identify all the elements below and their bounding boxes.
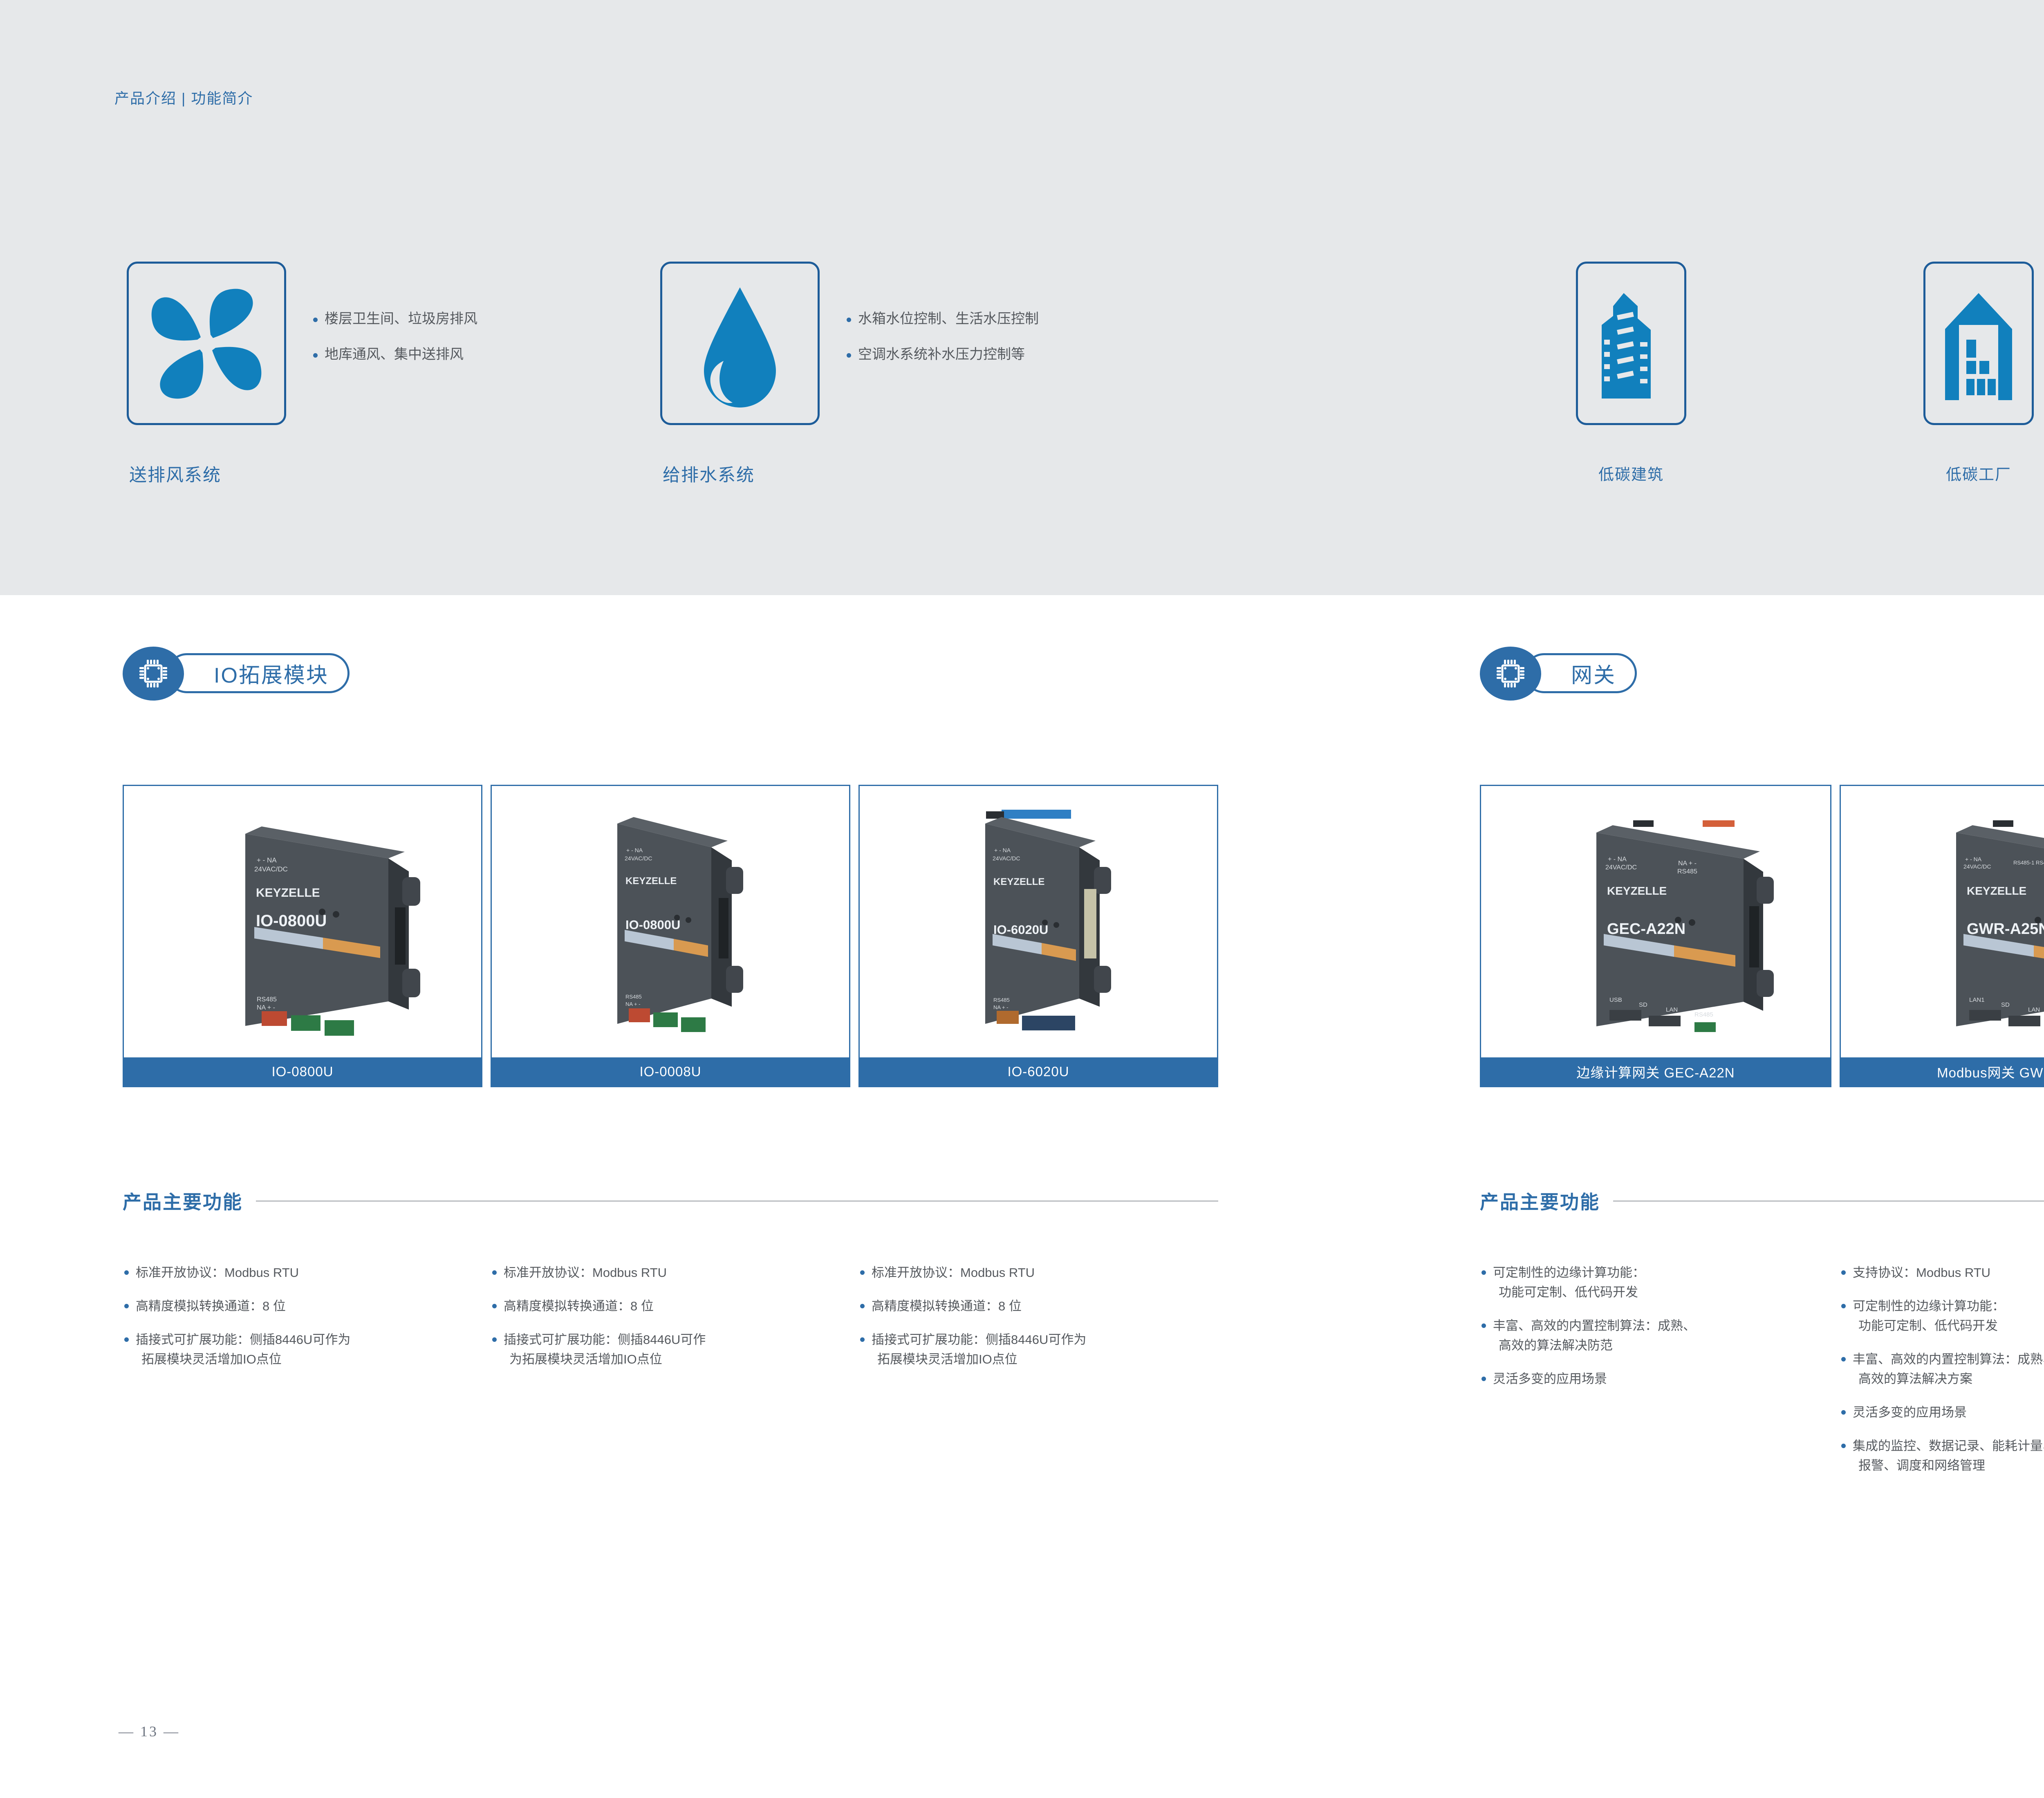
feature-line: 集成的监控、数据记录、能耗计量、 <box>1853 1439 2044 1453</box>
product-card-io-0008u[interactable]: + - NA 24VAC/DC KEYZELLE IO-0800U RS485 … <box>491 785 850 1087</box>
svg-text:NA + -: NA + - <box>993 1004 1009 1010</box>
features-heading-text: 产品主要功能 <box>1480 1187 1600 1214</box>
product-label-io-0008u: IO-0008U <box>492 1057 849 1086</box>
product-label-gec-a22n: 边缘计算网关 GEC-A22N <box>1481 1057 1830 1086</box>
svg-text:+ - NA: + - NA <box>1965 856 1982 862</box>
svg-text:24VAC/DC: 24VAC/DC <box>1963 863 1991 870</box>
product-image-io-0008u: + - NA 24VAC/DC KEYZELLE IO-0800U RS485 … <box>492 786 849 1057</box>
feature-line: 插接式可扩展功能：侧插8446U可作为 <box>872 1332 1086 1347</box>
heading-rule <box>256 1200 1218 1202</box>
svg-text:+ - NA: + - NA <box>1608 856 1627 863</box>
svg-text:KEYZELLE: KEYZELLE <box>993 876 1044 887</box>
feature-line-cont: 高效的算法解决方案 <box>1853 1369 2044 1389</box>
feature-line: 可定制性的边缘计算功能： <box>1853 1299 2005 1313</box>
feature-line: 标准开放协议：Modbus RTU <box>872 1265 1035 1280</box>
list-item: 可定制性的边缘计算功能： 功能可定制、低代码开发 <box>1480 1263 1807 1302</box>
section-badge-io-expansion: IO拓展模块 <box>123 647 433 704</box>
feature-line: 丰富、高效的内置控制算法：成熟、 <box>1493 1319 1696 1333</box>
product-image-io-0800u: + - NA 24VAC/DC KEYZELLE IO-0800U RS485 … <box>124 786 481 1057</box>
product-label-io-0800u: IO-0800U <box>124 1057 481 1086</box>
svg-text:USB: USB <box>1609 996 1622 1003</box>
product-card-io-6020u[interactable]: + - NA 24VAC/DC KEYZELLE IO-6020U RS485 … <box>858 785 1218 1087</box>
list-item: 空调水系统补水压力控制等 <box>844 346 1039 363</box>
feature-line: 插接式可扩展功能：侧插8446U可作 <box>504 1332 706 1347</box>
list-item: 高精度模拟转换通道：8 位 <box>491 1296 842 1316</box>
feature-line-cont: 高效的算法解决防范 <box>1493 1336 1807 1355</box>
scenario-card-title-low-carbon-building: 低碳建筑 <box>1573 462 1690 484</box>
list-item: 丰富、高效的内置控制算法：成熟、 高效的算法解决防范 <box>1480 1316 1807 1355</box>
product-image-gwr-a25n: + - NA 24VAC/DC RS485-1 RS485-2 KEYZELLE… <box>1841 786 2044 1057</box>
skyscraper-icon <box>1578 264 1684 424</box>
heading-rule <box>1613 1200 2044 1202</box>
product-label-io-6020u: IO-6020U <box>860 1057 1217 1086</box>
svg-text:KEYZELLE: KEYZELLE <box>1607 884 1667 897</box>
feature-line: 丰富、高效的内置控制算法：成熟、 <box>1853 1352 2044 1366</box>
feature-line-cont: 功能可定制、低代码开发 <box>1853 1316 2044 1336</box>
feature-line: 灵活多变的应用场景 <box>1493 1372 1607 1386</box>
list-item: 高精度模拟转换通道：8 位 <box>858 1296 1210 1316</box>
svg-text:GWR-A25N: GWR-A25N <box>1967 920 2044 938</box>
product-card-io-0800u[interactable]: + - NA 24VAC/DC KEYZELLE IO-0800U RS485 … <box>123 785 482 1087</box>
feature-column-gwr-a25n: 支持协议：Modbus RTU 可定制性的边缘计算功能： 功能可定制、低代码开发… <box>1840 1263 2044 1489</box>
section-badge-label: IO拓展模块 <box>214 658 329 689</box>
feature-column-io-0008u: 标准开放协议：Modbus RTU 高精度模拟转换通道：8 位 插接式可扩展功能… <box>491 1263 842 1383</box>
water-drop-icon <box>662 264 818 424</box>
list-item: 标准开放协议：Modbus RTU <box>858 1263 1210 1283</box>
feature-line: 高精度模拟转换通道：8 位 <box>504 1299 654 1313</box>
application-card-water-supply <box>660 262 820 425</box>
water-supply-bullets: 水箱水位控制、生活水压控制 空调水系统补水压力控制等 <box>844 311 1039 382</box>
page-number-left: — 13 — <box>119 1723 180 1740</box>
list-item: 插接式可扩展功能：侧插8446U可作为 拓展模块灵活增加IO点位 <box>858 1330 1210 1369</box>
svg-text:+ - NA: + - NA <box>626 847 643 853</box>
feature-line: 插接式可扩展功能：侧插8446U可作为 <box>136 1332 350 1347</box>
fan-icon <box>129 264 284 424</box>
svg-text:SD: SD <box>1639 1001 1647 1008</box>
feature-line: 高精度模拟转换通道：8 位 <box>872 1299 1022 1313</box>
product-card-gwr-a25n[interactable]: + - NA 24VAC/DC RS485-1 RS485-2 KEYZELLE… <box>1840 785 2044 1087</box>
svg-text:24VAC/DC: 24VAC/DC <box>254 865 288 873</box>
svg-text:LAN1: LAN1 <box>1969 996 1985 1003</box>
features-heading-text: 产品主要功能 <box>123 1187 243 1214</box>
section-badge-gateway: 网关 <box>1480 647 1733 704</box>
feature-line-cont: 拓展模块灵活增加IO点位 <box>136 1350 474 1369</box>
list-item: 可定制性的边缘计算功能： 功能可定制、低代码开发 <box>1840 1296 2044 1336</box>
section-badge-pill: IO拓展模块 <box>167 653 350 693</box>
feature-column-io-6020u: 标准开放协议：Modbus RTU 高精度模拟转换通道：8 位 插接式可扩展功能… <box>858 1263 1210 1383</box>
feature-column-gec-a22n: 可定制性的边缘计算功能： 功能可定制、低代码开发 丰富、高效的内置控制算法：成熟… <box>1480 1263 1807 1403</box>
product-image-io-6020u: + - NA 24VAC/DC KEYZELLE IO-6020U RS485 … <box>860 786 1217 1057</box>
svg-text:LAN: LAN <box>2028 1006 2040 1013</box>
list-item: 灵活多变的应用场景 <box>1840 1403 2044 1422</box>
svg-text:RS485: RS485 <box>1677 868 1697 875</box>
scenario-card-low-carbon-factory <box>1923 262 2034 425</box>
svg-text:NA + -: NA + - <box>625 1001 641 1007</box>
svg-text:KEYZELLE: KEYZELLE <box>1967 884 2026 897</box>
svg-text:RS485: RS485 <box>993 997 1010 1003</box>
svg-text:RS485-1 RS485-2: RS485-1 RS485-2 <box>2013 860 2044 866</box>
factory-icon <box>1925 264 2032 424</box>
feature-line-cont: 功能可定制、低代码开发 <box>1493 1283 1807 1302</box>
svg-text:KEYZELLE: KEYZELLE <box>256 886 320 900</box>
running-header-left: 产品介绍 | 功能简介 <box>114 87 253 108</box>
feature-line-cont: 拓展模块灵活增加IO点位 <box>872 1350 1210 1369</box>
application-card-title-water-supply: 给排水系统 <box>663 461 755 486</box>
product-card-gec-a22n[interactable]: + - NA 24VAC/DC NA + - RS485 KEYZELLE GE… <box>1480 785 1831 1087</box>
application-card-ventilation <box>127 262 286 425</box>
list-item: 地库通风、集中送排风 <box>311 346 477 363</box>
feature-line: 灵活多变的应用场景 <box>1853 1405 1967 1420</box>
list-item: 高精度模拟转换通道：8 位 <box>123 1296 474 1316</box>
feature-line: 高精度模拟转换通道：8 位 <box>136 1299 286 1313</box>
chip-icon <box>1480 647 1541 701</box>
svg-text:RS485: RS485 <box>257 996 277 1003</box>
svg-text:NA + -: NA + - <box>257 1004 275 1011</box>
list-item: 标准开放协议：Modbus RTU <box>123 1263 474 1283</box>
chip-icon <box>123 647 184 701</box>
svg-text:IO-6020U: IO-6020U <box>993 923 1048 937</box>
svg-text:24VAC/DC: 24VAC/DC <box>1605 864 1637 871</box>
svg-text:+ - NA: + - NA <box>994 847 1011 853</box>
application-card-title-ventilation: 送排风系统 <box>129 461 221 486</box>
svg-text:KEYZELLE: KEYZELLE <box>625 875 677 887</box>
scenario-card-title-low-carbon-factory: 低碳工厂 <box>1920 462 2037 484</box>
list-item: 标准开放协议：Modbus RTU <box>491 1263 842 1283</box>
list-item: 灵活多变的应用场景 <box>1480 1369 1807 1389</box>
product-image-gec-a22n: + - NA 24VAC/DC NA + - RS485 KEYZELLE GE… <box>1481 786 1830 1057</box>
svg-text:+ - NA: + - NA <box>257 856 277 864</box>
svg-text:IO-0800U: IO-0800U <box>256 912 327 930</box>
svg-text:24VAC/DC: 24VAC/DC <box>993 855 1020 862</box>
svg-text:IO-0800U: IO-0800U <box>625 918 680 932</box>
feature-line: 支持协议：Modbus RTU <box>1853 1265 1990 1280</box>
feature-line-cont: 为拓展模块灵活增加IO点位 <box>504 1350 842 1369</box>
scenario-card-low-carbon-building <box>1576 262 1686 425</box>
list-item: 集成的监控、数据记录、能耗计量、 报警、调度和网络管理 <box>1840 1436 2044 1476</box>
svg-text:RS485: RS485 <box>1694 1011 1713 1018</box>
list-item: 丰富、高效的内置控制算法：成熟、 高效的算法解决方案 <box>1840 1350 2044 1389</box>
feature-line: 标准开放协议：Modbus RTU <box>504 1265 667 1280</box>
feature-column-io-0800u: 标准开放协议：Modbus RTU 高精度模拟转换通道：8 位 插接式可扩展功能… <box>123 1263 474 1383</box>
feature-line: 标准开放协议：Modbus RTU <box>136 1265 299 1280</box>
ventilation-bullets: 楼层卫生间、垃圾房排风 地库通风、集中送排风 <box>311 311 477 382</box>
list-item: 插接式可扩展功能：侧插8446U可作为 拓展模块灵活增加IO点位 <box>123 1330 474 1369</box>
list-item: 楼层卫生间、垃圾房排风 <box>311 311 477 327</box>
features-heading-io: 产品主要功能 <box>123 1187 1218 1214</box>
top-grey-band <box>0 0 2044 595</box>
svg-text:SD: SD <box>2001 1001 2010 1008</box>
section-badge-label: 网关 <box>1571 658 1616 689</box>
list-item: 水箱水位控制、生活水压控制 <box>844 311 1039 327</box>
list-item: 支持协议：Modbus RTU <box>1840 1263 2044 1283</box>
svg-text:RS485: RS485 <box>625 994 642 1000</box>
product-label-gwr-a25n: Modbus网关 GWR-A25N <box>1841 1057 2044 1086</box>
list-item: 插接式可扩展功能：侧插8446U可作 为拓展模块灵活增加IO点位 <box>491 1330 842 1369</box>
svg-text:24VAC/DC: 24VAC/DC <box>625 855 652 862</box>
svg-text:GEC-A22N: GEC-A22N <box>1607 920 1685 938</box>
svg-text:NA + -: NA + - <box>1678 860 1697 867</box>
features-heading-gateway: 产品主要功能 <box>1480 1187 2044 1214</box>
feature-line-cont: 报警、调度和网络管理 <box>1853 1456 2044 1476</box>
svg-text:LAN: LAN <box>1666 1006 1678 1013</box>
feature-line: 可定制性的边缘计算功能： <box>1493 1265 1645 1280</box>
